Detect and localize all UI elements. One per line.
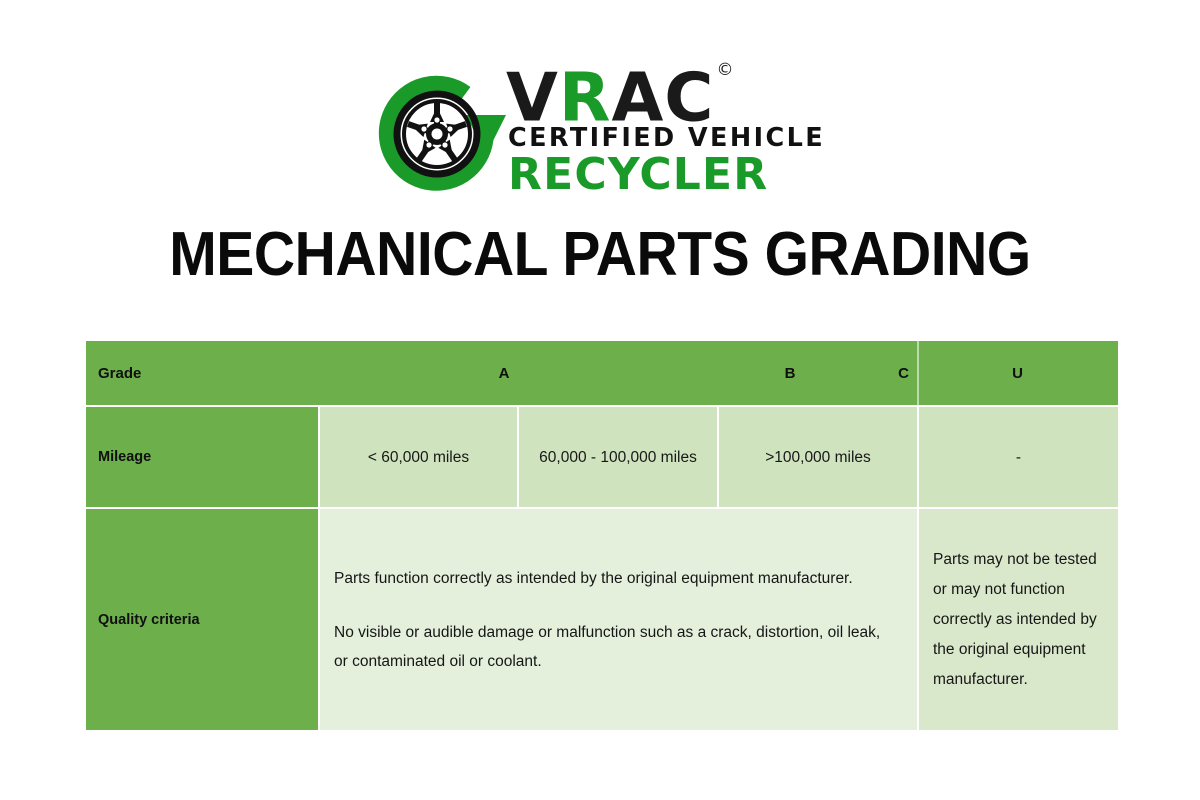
header-grade-label: Grade (86, 341, 318, 405)
cell-mileage-c: >100,000 miles (719, 407, 917, 507)
cell-mileage-b: 60,000 - 100,000 miles (519, 407, 717, 507)
page-title: MECHANICAL PARTS GRADING (48, 219, 1152, 290)
cell-quality-criteria-abc: Parts function correctly as intended by … (320, 509, 917, 730)
quality-paragraph-2: No visible or audible damage or malfunct… (334, 618, 895, 676)
table-row-quality-criteria: Quality criteria Parts function correctl… (86, 509, 1118, 730)
cell-mileage-u: - (919, 407, 1118, 507)
logo-brand-name: VRAC© (506, 57, 732, 132)
cell-quality-criteria-u: Parts may not be tested or may not funct… (919, 509, 1118, 730)
table-row-mileage: Mileage < 60,000 miles 60,000 - 100,000 … (86, 407, 1118, 507)
vrac-logo: VRAC© CERTIFIED VEHICLE RECYCLER (374, 55, 844, 200)
mechanical-parts-grading-table: Grade A B C U Mileage < 60,000 miles 60,… (86, 341, 1118, 730)
copyright-icon: © (716, 60, 734, 80)
header-grade-a: A (318, 341, 690, 405)
table-header-row: Grade A B C U (86, 341, 1118, 405)
header-divider (917, 341, 919, 405)
logo-wordmark: VRAC© CERTIFIED VEHICLE RECYCLER (506, 55, 844, 200)
row-label-quality-criteria: Quality criteria (86, 509, 318, 730)
header-grade-c: C (890, 341, 917, 405)
header-grade-b: B (690, 341, 890, 405)
cell-mileage-a: < 60,000 miles (320, 407, 517, 507)
quality-paragraph-1: Parts function correctly as intended by … (334, 570, 853, 587)
logo-tagline-bottom: RECYCLER (508, 151, 768, 199)
row-label-mileage: Mileage (86, 407, 318, 507)
header-grade-u: U (917, 341, 1118, 405)
recycling-arrow-wheel-icon (374, 67, 506, 191)
